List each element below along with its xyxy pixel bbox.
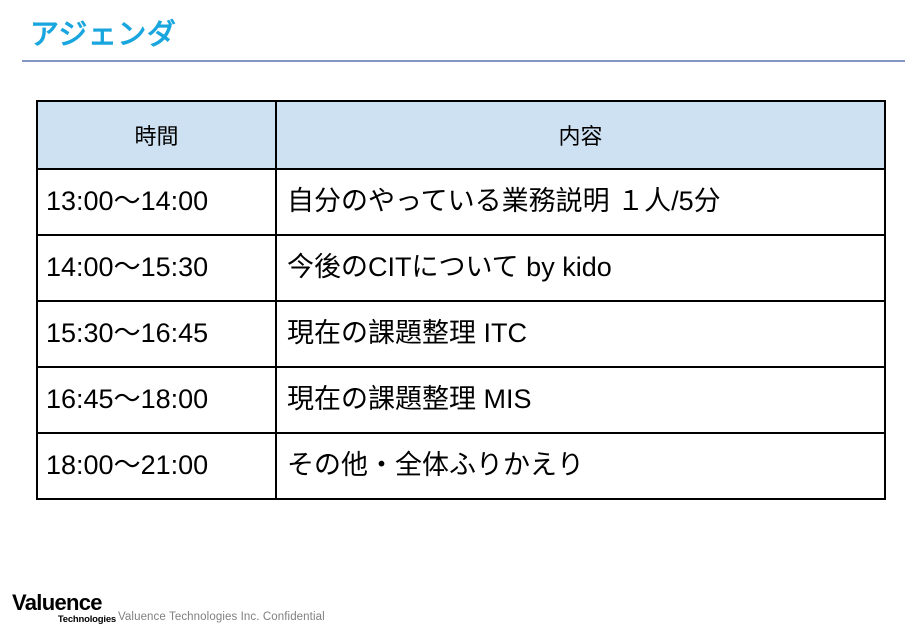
table-row: 16:45〜18:00 現在の課題整理 MIS [37, 367, 885, 433]
table-row: 18:00〜21:00 その他・全体ふりかえり [37, 433, 885, 499]
cell-content: 現在の課題整理 ITC [276, 301, 885, 367]
agenda-table-container: 時間 内容 13:00〜14:00 自分のやっている業務説明 １人/5分 14:… [36, 100, 884, 500]
table-body: 13:00〜14:00 自分のやっている業務説明 １人/5分 14:00〜15:… [37, 169, 885, 499]
page-title: アジェンダ [30, 18, 176, 53]
table-header: 時間 内容 [37, 101, 885, 169]
valuence-logo: Valuence Technologies [12, 592, 116, 625]
column-header-content: 内容 [276, 101, 885, 169]
cell-content: 今後のCITについて by kido [276, 235, 885, 301]
confidentiality-notice: Valuence Technologies Inc. Confidential [118, 611, 325, 623]
cell-time: 16:45〜18:00 [37, 367, 276, 433]
table-row: 15:30〜16:45 現在の課題整理 ITC [37, 301, 885, 367]
title-divider [22, 60, 905, 62]
table-row: 13:00〜14:00 自分のやっている業務説明 １人/5分 [37, 169, 885, 235]
table-row: 14:00〜15:30 今後のCITについて by kido [37, 235, 885, 301]
cell-time: 14:00〜15:30 [37, 235, 276, 301]
cell-time: 13:00〜14:00 [37, 169, 276, 235]
cell-time: 15:30〜16:45 [37, 301, 276, 367]
cell-time: 18:00〜21:00 [37, 433, 276, 499]
logo-wordmark: Valuence [12, 592, 116, 614]
cell-content: 現在の課題整理 MIS [276, 367, 885, 433]
logo-subtitle: Technologies [12, 615, 116, 625]
cell-content: その他・全体ふりかえり [276, 433, 885, 499]
slide-footer: Valuence Technologies Valuence Technolog… [0, 574, 919, 632]
table-header-row: 時間 内容 [37, 101, 885, 169]
agenda-table: 時間 内容 13:00〜14:00 自分のやっている業務説明 １人/5分 14:… [36, 100, 886, 500]
cell-content: 自分のやっている業務説明 １人/5分 [276, 169, 885, 235]
column-header-time: 時間 [37, 101, 276, 169]
